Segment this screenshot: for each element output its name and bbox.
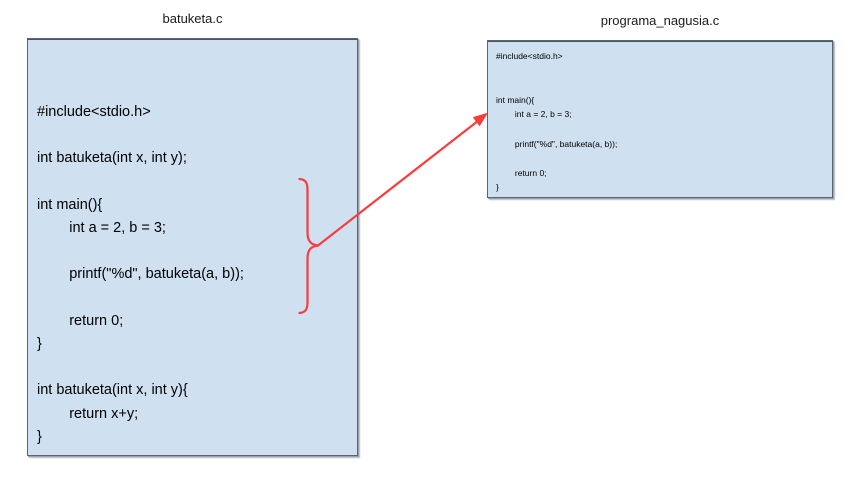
right-box-top-rule <box>488 41 832 42</box>
right-code-text: #include<stdio.h> int main(){ int a = 2,… <box>496 49 617 195</box>
diagram-canvas: batuketa.c #include<stdio.h> int batuket… <box>0 0 848 477</box>
right-code-box: #include<stdio.h> int main(){ int a = 2,… <box>487 40 833 198</box>
left-code-box: #include<stdio.h> int batuketa(int x, in… <box>27 38 358 456</box>
left-code-text: #include<stdio.h> int batuketa(int x, in… <box>37 101 244 449</box>
left-file-title: batuketa.c <box>27 11 358 27</box>
left-box-top-rule <box>28 39 357 40</box>
connector-arrow-head <box>474 114 488 126</box>
right-file-title: programa_nagusia.c <box>487 13 833 29</box>
